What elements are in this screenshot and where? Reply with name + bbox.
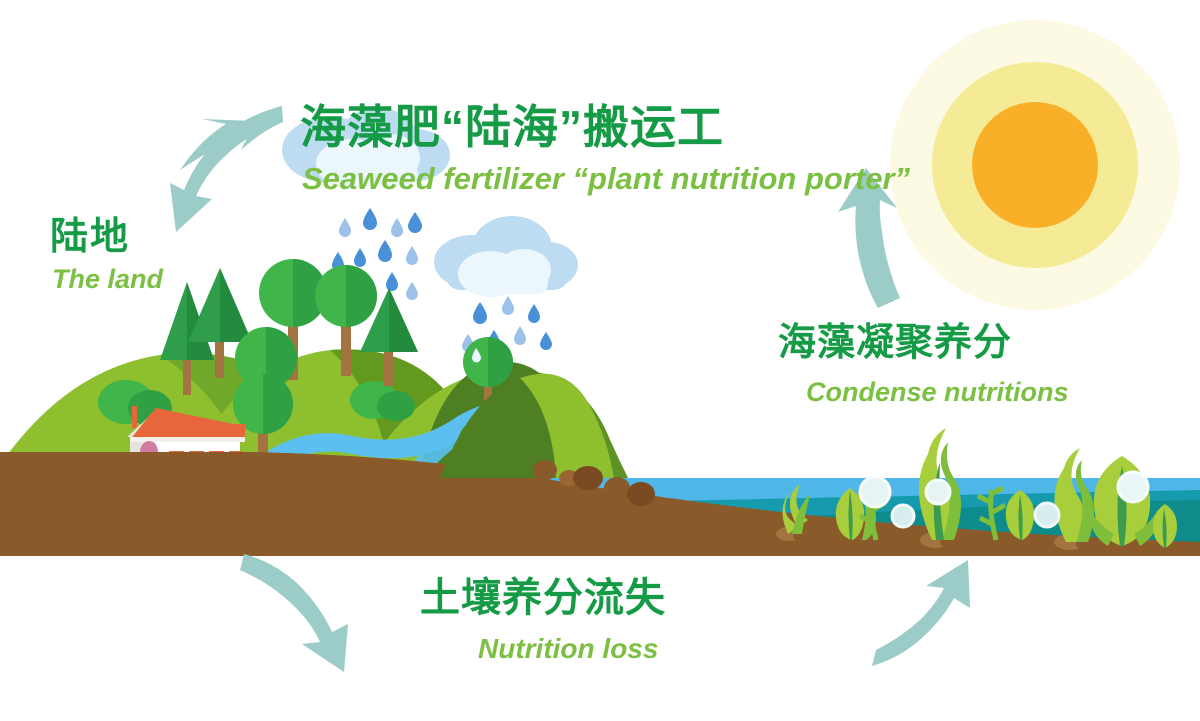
cloud-right <box>434 216 578 297</box>
label-land-cn: 陆地 <box>50 218 130 256</box>
arrow-top-left-down <box>170 106 283 232</box>
label-condense-cn: 海藻凝聚养分 <box>778 324 1012 362</box>
page-title-en: Seaweed fertilizer “plant nutrition port… <box>302 163 910 194</box>
label-land-en: The land <box>52 266 163 293</box>
sun-graphic <box>890 20 1180 310</box>
page-title-cn: 海藻肥“陆海”搬运工 <box>300 104 724 150</box>
infographic-canvas: 海藻肥“陆海”搬运工 Seaweed fertilizer “plant nut… <box>0 0 1200 721</box>
arrow-bottom-left-down <box>240 554 348 672</box>
arrow-bottom-right-up <box>872 560 970 666</box>
seaweed-bush-large <box>1090 456 1158 546</box>
label-condense-en: Condense nutritions <box>806 379 1069 406</box>
label-loss-en: Nutrition loss <box>478 635 658 663</box>
label-loss-cn: 土壤养分流失 <box>420 578 666 618</box>
